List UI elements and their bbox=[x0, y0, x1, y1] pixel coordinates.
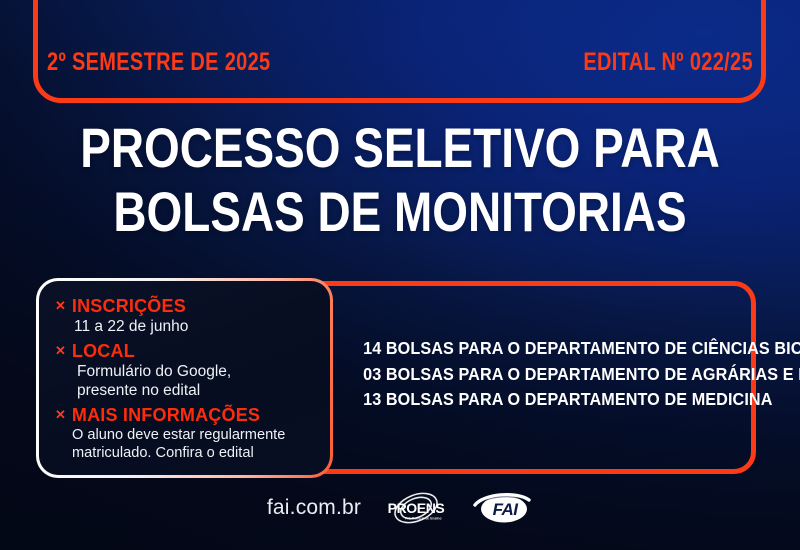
info-item-inscricoes: ✕ INSCRIÇÕES bbox=[55, 297, 318, 315]
scholarship-list: 14 BOLSAS PARA O DEPARTAMENTO DE CIÊNCIA… bbox=[330, 336, 744, 413]
scholarship-line: 03 BOLSAS PARA O DEPARTAMENTO DE AGRÁRIA… bbox=[363, 362, 744, 388]
info-item-body: 11 a 22 de junho bbox=[74, 318, 318, 337]
info-item-body-2: presente no edital bbox=[77, 382, 318, 401]
info-card-inner: ✕ INSCRIÇÕES 11 a 22 de junho ✕ LOCAL Fo… bbox=[39, 281, 330, 475]
info-card: ✕ INSCRIÇÕES 11 a 22 de junho ✕ LOCAL Fo… bbox=[36, 278, 333, 478]
info-item-heading: INSCRIÇÕES bbox=[72, 297, 186, 315]
edital-number: EDITAL Nº 022/25 bbox=[583, 48, 753, 77]
bullet-x-icon: ✕ bbox=[55, 297, 66, 315]
title-line-1: PROCESSO SELETIVO PARA bbox=[72, 116, 728, 180]
page-title: PROCESSO SELETIVO PARA BOLSAS DE MONITOR… bbox=[0, 116, 800, 244]
scholarship-line: 13 BOLSAS PARA O DEPARTAMENTO DE MEDICIN… bbox=[363, 387, 744, 413]
fai-logo-text: FAI bbox=[493, 500, 520, 519]
title-line-2: BOLSAS DE MONITORIAS bbox=[72, 180, 728, 244]
info-item-body-2: matriculado. Confira o edital bbox=[72, 445, 318, 463]
proens-logo-text: PROENS bbox=[388, 500, 445, 516]
proens-logo: PROENS Pró-Reitoria de Ensino bbox=[379, 488, 453, 528]
footer: fai.com.br PROENS Pró-Reitoria de Ensino… bbox=[0, 486, 800, 530]
proens-logo-subtext: Pró-Reitoria de Ensino bbox=[405, 517, 442, 521]
semester-kicker: 2º SEMESTRE DE 2025 bbox=[47, 48, 270, 77]
info-item-body: Formulário do Google, bbox=[77, 363, 318, 382]
website-url[interactable]: fai.com.br bbox=[267, 496, 361, 520]
info-item-mais-informacoes: ✕ MAIS INFORMAÇÕES bbox=[55, 406, 318, 424]
poster-canvas: 2º SEMESTRE DE 2025 EDITAL Nº 022/25 PRO… bbox=[0, 0, 800, 550]
info-item-heading: MAIS INFORMAÇÕES bbox=[72, 406, 260, 424]
scholarship-line: 14 BOLSAS PARA O DEPARTAMENTO DE CIÊNCIA… bbox=[363, 336, 744, 362]
info-item-local: ✕ LOCAL bbox=[55, 342, 318, 360]
bullet-x-icon: ✕ bbox=[55, 406, 66, 424]
info-item-heading: LOCAL bbox=[72, 342, 135, 360]
fai-logo: FAI bbox=[471, 488, 533, 528]
bullet-x-icon: ✕ bbox=[55, 342, 66, 360]
info-item-body: O aluno deve estar regularmente bbox=[72, 427, 318, 445]
